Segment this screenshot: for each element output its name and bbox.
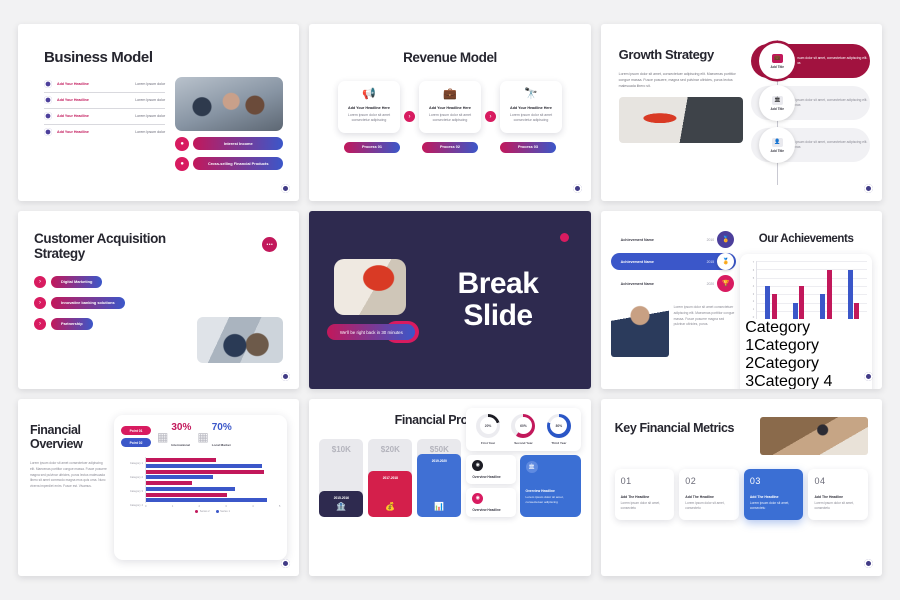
bar xyxy=(146,498,267,502)
red-car-on-coins-photo xyxy=(619,97,744,143)
page-title: Financial Overview xyxy=(30,423,108,451)
metric-card-01[interactable]: 01 Add The Headline Lorem ipsum dolor si… xyxy=(615,469,675,521)
bar-group xyxy=(146,458,280,468)
bank-icon: ● xyxy=(175,137,189,151)
list-item[interactable]: Add Your Headline Lorem Ipsum dolor xyxy=(44,125,165,140)
briefcase-icon: 💼 xyxy=(772,54,783,63)
binoculars-icon: 🔭 xyxy=(506,89,556,100)
column-years: 2017-2018 xyxy=(383,476,398,480)
process-button-2[interactable]: Process 02 xyxy=(422,142,478,153)
chevron-right-icon[interactable]: › xyxy=(485,111,496,122)
store-icon: ▦ xyxy=(157,430,168,444)
list-item[interactable]: Add Your Headline Lorem Ipsum dolor xyxy=(44,93,165,109)
bar xyxy=(799,286,804,319)
page-number-dot xyxy=(573,184,582,193)
body-text: Lorem ipsum dolor sit amet consectetuer … xyxy=(674,297,737,357)
pin-icon: ◉ xyxy=(472,493,483,504)
column-value: $20K xyxy=(381,445,400,454)
page-number-dot xyxy=(864,372,873,381)
chart-icon: 📊 xyxy=(434,502,444,511)
process-button-1[interactable]: Process 01 xyxy=(344,142,400,153)
donut-first-year: 20% First Year xyxy=(476,414,500,445)
stat-label: Local Market xyxy=(212,443,231,447)
highlight-title: Overview Headline xyxy=(526,489,575,493)
chevron-right-icon[interactable]: › xyxy=(34,276,46,288)
target-icon: ◉ xyxy=(472,460,483,471)
achievement-row-2[interactable]: Achievement Name 2015 🏅 xyxy=(611,253,737,270)
point-02-badge[interactable]: Point 02 xyxy=(121,438,151,447)
stat-local-market: ▦ 70% Local Market xyxy=(197,423,231,451)
y-tick: 1 xyxy=(753,308,754,311)
column-years: 2015-2016 xyxy=(334,496,349,500)
stat-international: ▦ 30% International xyxy=(157,423,191,451)
donut-second-year: 60% Second Year xyxy=(511,414,535,445)
list-item-text: Lorem Ipsum dolor xyxy=(135,114,165,118)
bullet-icon xyxy=(44,112,52,120)
body-text: Lorem ipsum dolor sit amet, consectetuer… xyxy=(619,71,744,89)
donut-label: First Year xyxy=(476,441,500,445)
y-tick: Category 2 xyxy=(121,476,143,479)
point-01-badge[interactable]: Point 01 xyxy=(121,426,151,435)
bar xyxy=(146,481,192,485)
metric-body: Lorem ipsum dolor sit amet, consectetu xyxy=(685,501,733,512)
achievement-year: 2015 xyxy=(707,260,715,264)
projection-column-2[interactable]: $20K 2017-2018 💰 xyxy=(368,439,412,517)
tag-digital-marketing[interactable]: Digital Marketing xyxy=(51,276,102,288)
page-number-dot xyxy=(281,559,290,568)
y-tick: Category 3 xyxy=(121,490,143,493)
x-tick: 4 xyxy=(252,505,254,508)
metric-number: 04 xyxy=(814,476,862,486)
donut-ring: 60% xyxy=(511,414,535,438)
bar xyxy=(146,458,216,462)
chevron-right-icon[interactable]: › xyxy=(404,111,415,122)
bar xyxy=(848,270,853,320)
card-headline: Add Your Headline Here xyxy=(344,106,394,110)
megaphone-icon: 📢 xyxy=(344,89,394,100)
legend-entry: Series 2 xyxy=(195,510,209,513)
revenue-card-1[interactable]: 📢 Add Your Headline Here Lorem ipsum dol… xyxy=(338,81,400,133)
metric-number: 02 xyxy=(685,476,733,486)
y-tick: 3 xyxy=(753,293,754,296)
x-tick: 2 xyxy=(199,505,201,508)
page-title: Business Model xyxy=(44,50,283,67)
list-item-headline: Add Your Headline xyxy=(57,98,130,102)
page-number-dot xyxy=(281,372,290,381)
slide-financial-overview[interactable]: Financial Overview Lorem ipsum dolor sit… xyxy=(18,399,299,576)
page-title: Growth Strategy xyxy=(619,48,744,63)
metric-card-04[interactable]: 04 Add The Headline Lorem ipsum dolor si… xyxy=(808,469,868,521)
interest-income-button[interactable]: Interest Income xyxy=(193,137,283,150)
bar xyxy=(146,475,213,479)
page-title: Customer Acquisition Strategy xyxy=(34,231,184,261)
stat-value: 70% xyxy=(212,423,232,433)
step-title: Add Title xyxy=(771,149,785,153)
cart-icon: ▦ xyxy=(197,430,208,444)
card-headline: Add Your Headline Here xyxy=(425,106,475,110)
desk-with-documents-photo xyxy=(760,417,868,455)
donut-value: 60% xyxy=(515,417,532,434)
bar xyxy=(820,294,825,319)
stat-label: International xyxy=(171,443,190,447)
slide-our-achievements[interactable]: Achievement Name 2010 🏅 Achievement Name… xyxy=(601,211,882,388)
bank-icon: 🏦 xyxy=(336,502,346,511)
y-axis-ticks: 7 6 5 4 3 2 1 0 xyxy=(745,261,756,319)
achievements-bar-chart: 7 6 5 4 3 2 1 0 xyxy=(740,254,872,388)
page-number-dot xyxy=(864,184,873,193)
y-tick: 6 xyxy=(753,269,754,272)
list-item-headline: Add Your Headline xyxy=(57,114,130,118)
bank-icon: 🏛 xyxy=(772,96,783,105)
highlight-body: Lorem ipsum dolor sit amet, consectetuer… xyxy=(526,495,575,505)
break-caption: We'll be right back in 30 minutes xyxy=(327,324,415,340)
metric-card-03[interactable]: 03 Add The Headline Lorem ipsum dolor si… xyxy=(744,469,804,521)
donut-third-year: 80% Third Year xyxy=(547,414,571,445)
metric-headline: Add The Headline xyxy=(621,495,669,499)
donut-ring: 80% xyxy=(547,414,571,438)
plot-area xyxy=(145,457,280,503)
y-tick: 5 xyxy=(753,277,754,280)
stat-value: 30% xyxy=(171,423,191,433)
revenue-card-3[interactable]: 🔭 Add Your Headline Here Lorem ipsum dol… xyxy=(500,81,562,133)
timeline-step-2[interactable]: 🏛 Add Title Lorem ipsum dolor sit amet, … xyxy=(751,86,870,120)
bank-icon: 🏛 xyxy=(526,461,538,473)
list-item-headline: Add Your Headline xyxy=(57,130,130,134)
timeline-step-3[interactable]: 👤 Add Title Lorem ipsum dolor sit amet, … xyxy=(751,128,870,162)
list-item-text: Lorem Ipsum dolor xyxy=(135,98,165,102)
y-tick: Category 1 xyxy=(121,462,143,465)
bullet-icon xyxy=(44,96,52,104)
slide-growth-strategy[interactable]: Growth Strategy Lorem ipsum dolor sit am… xyxy=(601,24,882,201)
bar-group xyxy=(765,261,777,319)
achievement-row-3[interactable]: Achievement Name 2020 🏆 xyxy=(611,275,737,292)
metric-body: Lorem ipsum dolor sit amet, consectetu xyxy=(750,501,798,512)
card-body: Lorem ipsum dolor sit amet consectetur a… xyxy=(425,113,475,124)
page-title: Our Achievements xyxy=(740,233,872,246)
bar xyxy=(854,303,859,320)
page-number-dot xyxy=(864,559,873,568)
man-with-trophy-photo xyxy=(611,301,669,357)
list-item[interactable]: Add Your Headline Lorem Ipsum dolor xyxy=(44,77,165,93)
achievement-year: 2020 xyxy=(707,282,715,286)
column-years: 2019-2020 xyxy=(432,459,447,463)
slide-financial-projection[interactable]: Financial Projection $10K 2015-2016 🏦 $2… xyxy=(309,399,590,576)
metric-body: Lorem ipsum dolor sit amet, consectetu xyxy=(814,501,862,512)
briefcase-icon: 💼 xyxy=(425,89,475,100)
chart-legend: Series 2Series 1 xyxy=(145,510,280,513)
plot-area xyxy=(756,261,867,319)
x-axis-labels: Category 1Category 2Category 3Category 4 xyxy=(745,319,867,388)
page-title: Revenue Model xyxy=(323,50,576,65)
list-item-headline: Add Your Headline xyxy=(57,82,130,86)
bar xyxy=(765,286,770,319)
bullet-icon xyxy=(44,80,52,88)
metric-body: Lorem ipsum dolor sit amet, consectetu xyxy=(621,501,669,512)
user-icon: 👤 xyxy=(772,138,783,147)
projection-column-1[interactable]: $10K 2015-2016 🏦 xyxy=(319,439,363,517)
cross-selling-row[interactable]: ● Cross-selling Financial Products xyxy=(175,157,283,171)
card-body: Lorem ipsum dolor sit amet consectetur a… xyxy=(344,113,394,124)
accent-dot-icon xyxy=(560,233,569,242)
donut-value: 20% xyxy=(480,417,497,434)
overview-card-1[interactable]: ◉ Overview Headline xyxy=(466,455,515,484)
slide-key-financial-metrics[interactable]: Key Financial Metrics 01 Add The Headlin… xyxy=(601,399,882,576)
x-tick: Category 4 xyxy=(754,373,832,388)
bar xyxy=(827,270,832,320)
overview-card-title: Overview Headline xyxy=(472,508,509,512)
bar xyxy=(146,487,235,491)
page-title: Break Slide xyxy=(423,268,572,333)
y-tick: 7 xyxy=(753,261,754,264)
achievement-name: Achievement Name xyxy=(621,238,654,242)
team-meeting-photo xyxy=(175,77,283,131)
card-headline: Add Your Headline Here xyxy=(506,106,556,110)
overview-card-2[interactable]: ◉ Overview Headline xyxy=(466,488,515,517)
bar-group xyxy=(146,481,280,491)
step-title: Add Title xyxy=(771,65,785,69)
body-text: Lorem ipsum dolor sit amet consectetuer … xyxy=(30,461,108,491)
bar xyxy=(793,303,798,320)
metric-card-02[interactable]: 02 Add The Headline Lorem ipsum dolor si… xyxy=(679,469,739,521)
x-tick: 1 xyxy=(172,505,174,508)
tag-innovative-banking[interactable]: Innovative banking solutions xyxy=(51,297,125,309)
interest-income-row[interactable]: ● Interest Income xyxy=(175,137,283,151)
page-number-dot xyxy=(281,184,290,193)
more-options-badge[interactable]: ••• xyxy=(262,237,277,252)
list-item[interactable]: Add Your Headline Lorem Ipsum dolor xyxy=(44,109,165,125)
coins-and-car-photo xyxy=(334,259,406,315)
legend-entry: Series 1 xyxy=(216,510,230,513)
achievement-name: Achievement Name xyxy=(621,282,654,286)
donut-label: Second Year xyxy=(511,441,535,445)
slide-break[interactable]: We'll be right back in 30 minutes Break … xyxy=(309,211,590,388)
x-axis-ticks: 012345 xyxy=(145,505,280,508)
overview-card-title: Overview Headline xyxy=(472,475,509,479)
revenue-card-2[interactable]: 💼 Add Your Headline Here Lorem ipsum dol… xyxy=(419,81,481,133)
donut-value: 80% xyxy=(550,417,567,434)
slide-revenue-model[interactable]: Revenue Model 📢 Add Your Headline Here L… xyxy=(309,24,590,201)
acquisition-item-2[interactable]: › Innovative banking solutions xyxy=(34,297,283,309)
handshake-icon: ● xyxy=(175,157,189,171)
column-value: $50K xyxy=(430,445,449,454)
y-axis-labels: Category 1Category 2Category 3Category 4 xyxy=(121,457,145,513)
x-tick: 0 xyxy=(145,505,147,508)
chevron-right-icon[interactable]: › xyxy=(34,297,46,309)
slide-business-model[interactable]: Business Model Add Your Headline Lorem I… xyxy=(18,24,299,201)
metric-headline: Add The Headline xyxy=(814,495,862,499)
card-body: Lorem ipsum dolor sit amet consectetur a… xyxy=(506,113,556,124)
y-tick: 2 xyxy=(753,300,754,303)
bar-group xyxy=(146,470,280,480)
highlight-card[interactable]: 🏛 Overview Headline Lorem ipsum dolor si… xyxy=(520,455,581,517)
bar-group xyxy=(848,261,860,319)
financial-overview-bar-chart: Category 1Category 2Category 3Category 4… xyxy=(121,457,280,513)
bar-group-container xyxy=(757,261,867,319)
cross-selling-button[interactable]: Cross-selling Financial Products xyxy=(193,157,283,170)
two-businessmen-photo xyxy=(197,317,283,363)
tag-partnership[interactable]: Partnership xyxy=(51,318,93,330)
x-tick: 3 xyxy=(225,505,227,508)
x-tick: 5 xyxy=(279,505,281,508)
achievement-name: Achievement Name xyxy=(621,260,654,264)
slide-customer-acquisition[interactable]: Customer Acquisition Strategy ••• › Digi… xyxy=(18,211,299,388)
donut-label: Third Year xyxy=(547,441,571,445)
metric-headline: Add The Headline xyxy=(750,495,798,499)
column-value: $10K xyxy=(332,445,351,454)
process-button-3[interactable]: Process 03 xyxy=(500,142,556,153)
slide-deck-grid: Business Model Add Your Headline Lorem I… xyxy=(0,0,900,600)
list-item-text: Lorem Ipsum dolor xyxy=(135,82,165,86)
bar-group xyxy=(820,261,832,319)
metric-headline: Add The Headline xyxy=(685,495,733,499)
coins-icon: 💰 xyxy=(385,502,395,511)
bar xyxy=(146,493,227,497)
bar xyxy=(772,294,777,319)
bar xyxy=(146,470,264,474)
list-item-text: Lorem Ipsum dolor xyxy=(135,130,165,134)
bar-group xyxy=(793,261,805,319)
page-title: Key Financial Metrics xyxy=(615,417,750,435)
acquisition-item-1[interactable]: › Digital Marketing xyxy=(34,276,283,288)
bar xyxy=(146,464,262,468)
y-tick: 4 xyxy=(753,285,754,288)
timeline-step-1[interactable]: 💼 Add Title Lorem ipsum dolor sit amet, … xyxy=(751,44,870,78)
y-tick: Category 4 xyxy=(121,504,143,507)
projection-column-3[interactable]: $50K 2019-2020 📊 xyxy=(417,439,461,517)
achievement-row-1[interactable]: Achievement Name 2010 🏅 xyxy=(611,231,737,248)
bar-group xyxy=(146,493,280,503)
chevron-right-icon[interactable]: › xyxy=(34,318,46,330)
headline-list: Add Your Headline Lorem Ipsum dolor Add … xyxy=(44,77,165,171)
metric-number: 03 xyxy=(750,476,798,486)
donut-ring: 20% xyxy=(476,414,500,438)
bullet-icon xyxy=(44,128,52,136)
achievement-year: 2010 xyxy=(707,238,715,242)
step-title: Add Title xyxy=(771,107,785,111)
metric-number: 01 xyxy=(621,476,669,486)
